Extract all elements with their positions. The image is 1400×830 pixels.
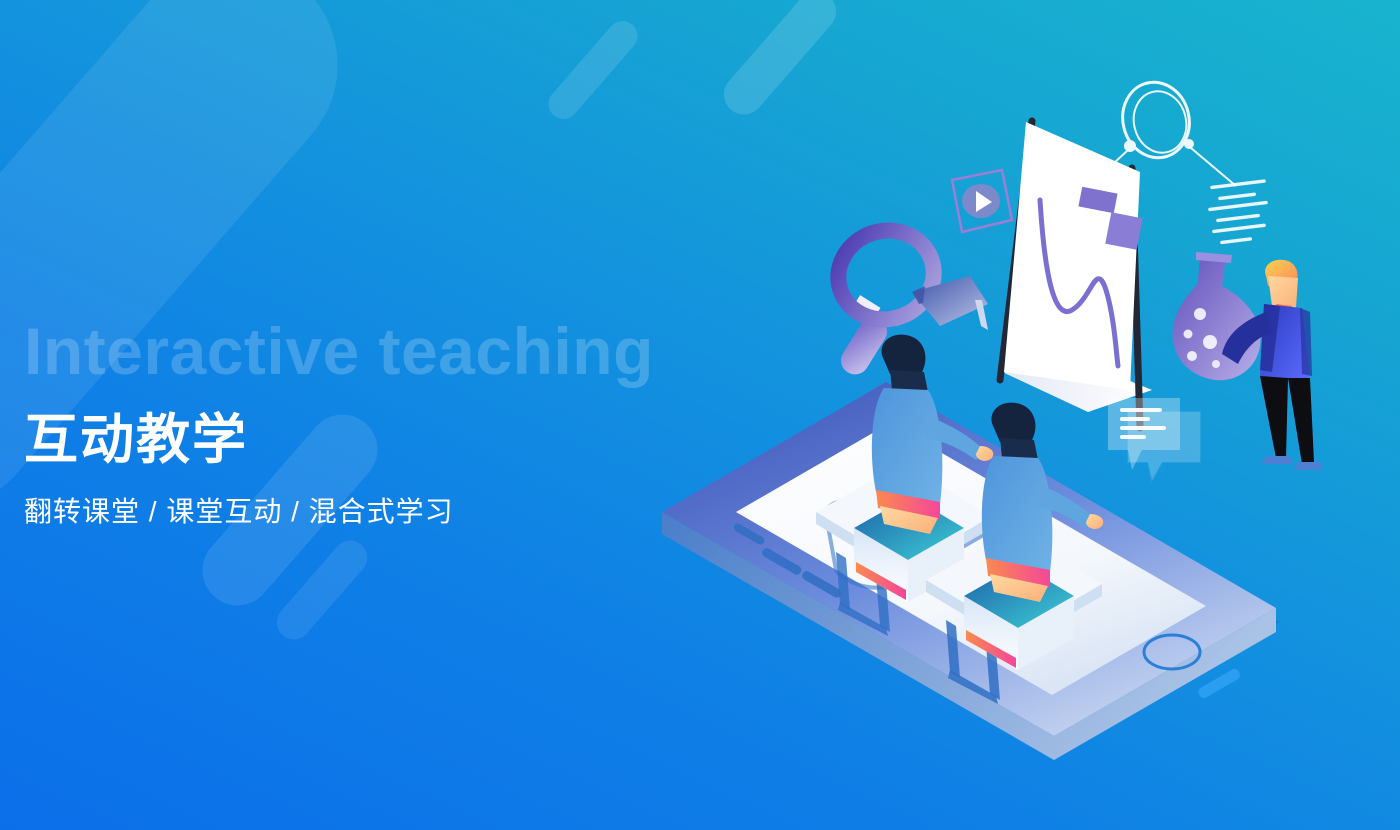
chat-bubble-icon [1108,398,1200,480]
graduation-cap-icon [912,276,988,330]
flask-icon [1172,252,1260,380]
background-capsule-small-3 [270,534,374,647]
whiteboard-easel-chart [998,121,1152,428]
background-capsule-small-1 [542,15,643,125]
network-text-lines-right [1208,179,1268,244]
video-play-icon [952,170,1012,232]
interactive-teaching-banner: Interactive teaching 互动教学 翻转课堂 / 课堂互动 / … [0,0,1400,830]
classroom-illustration [640,60,1400,790]
